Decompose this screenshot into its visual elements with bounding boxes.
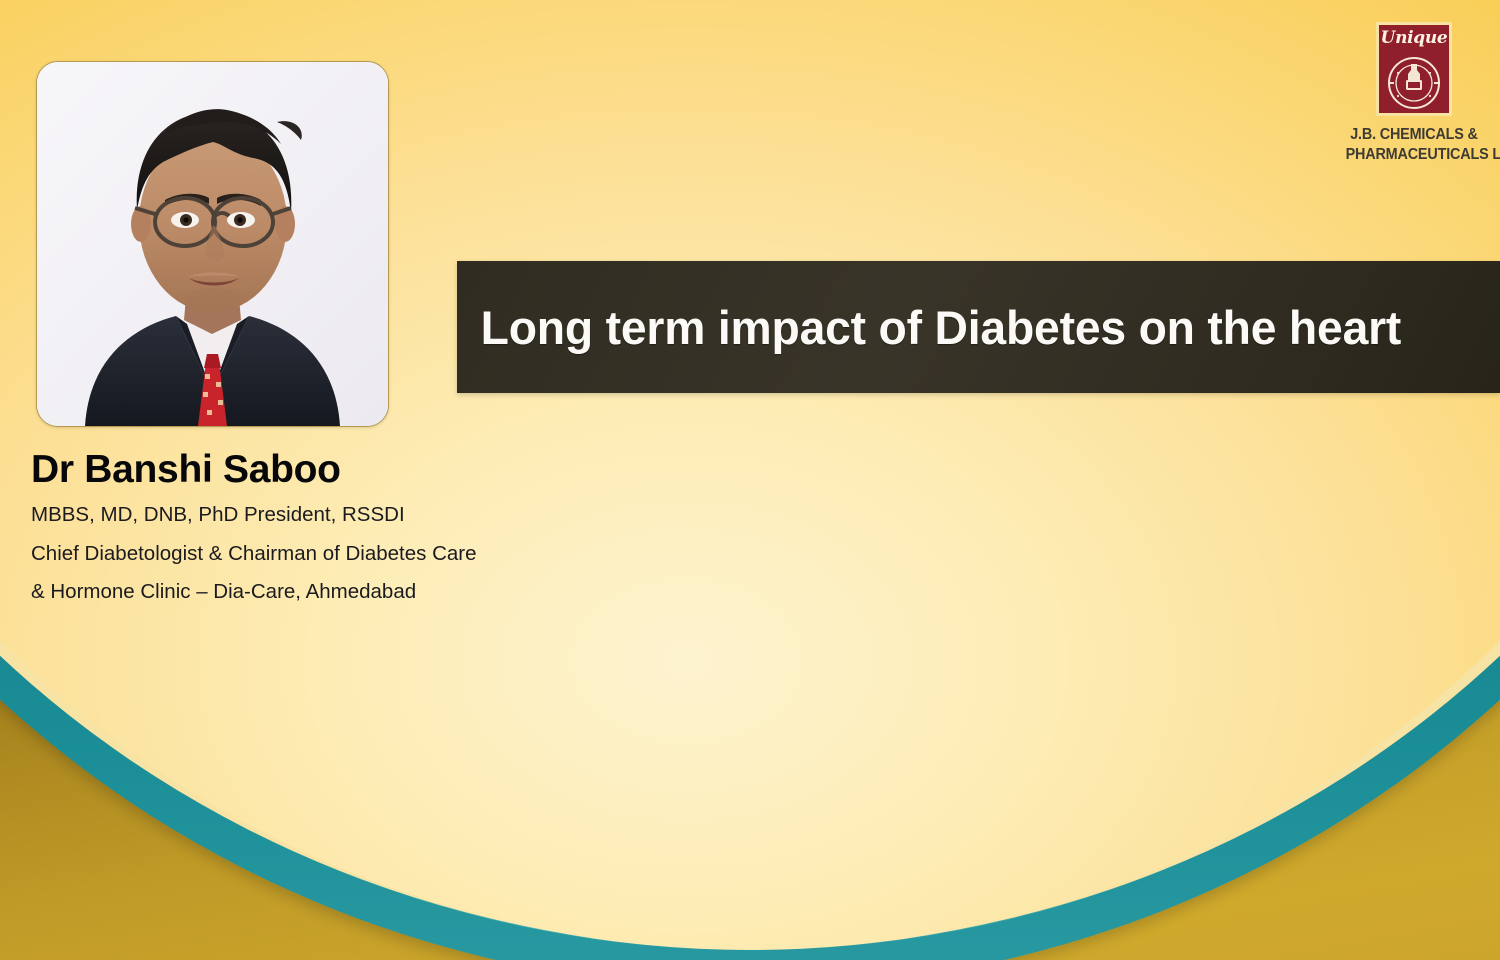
speaker-info-block: Dr Banshi Saboo MBBS, MD, DNB, PhD Presi… <box>31 449 651 603</box>
speaker-credentials-line-1: MBBS, MD, DNB, PhD President, RSSDI <box>31 505 651 526</box>
company-logo: Unique J.B. CHEMICALS & PHARMACEUTICALS … <box>1338 22 1490 164</box>
company-name-line-2: PHARMACEUTICALS LTD. <box>1346 145 1483 165</box>
speaker-name: Dr Banshi Saboo <box>31 449 651 491</box>
company-name-line-1: J.B. CHEMICALS & <box>1346 125 1483 145</box>
speaker-credentials-line-2: Chief Diabetologist & Chairman of Diabet… <box>31 544 651 565</box>
speaker-portrait-photo <box>36 61 389 427</box>
page-title: Long term impact of Diabetes on the hear… <box>457 300 1401 355</box>
quality-seal-icon <box>1387 56 1441 110</box>
unique-script-wordmark: Unique <box>1379 30 1449 47</box>
presentation-slide: Long term impact of Diabetes on the hear… <box>0 0 1500 960</box>
speaker-credentials-line-3: & Hormone Clinic – Dia-Care, Ahmedabad <box>31 582 651 603</box>
unique-brand-mark-icon: Unique <box>1376 22 1452 116</box>
slide-title-bar: Long term impact of Diabetes on the hear… <box>457 261 1500 393</box>
company-name-text: J.B. CHEMICALS & PHARMACEUTICALS LTD. <box>1346 125 1483 164</box>
portrait-illustration <box>37 62 388 426</box>
